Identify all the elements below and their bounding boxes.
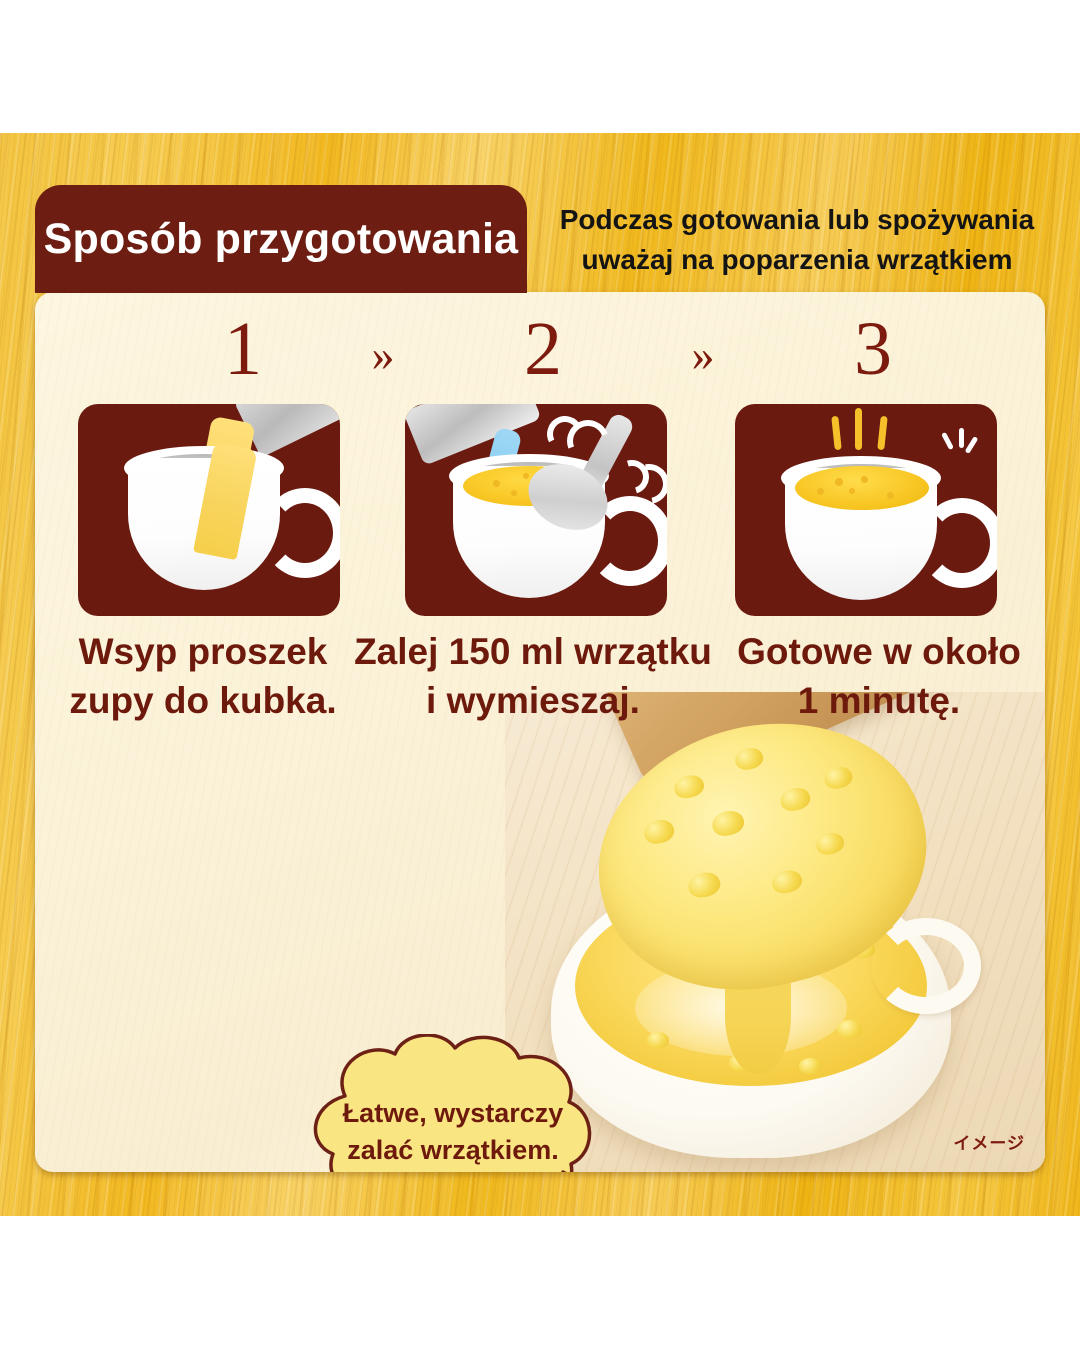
warning-line-2: uważaj na poparzenia wrzątkiem [581,240,1012,280]
photo-watermark: イメージ [953,1129,1025,1154]
step-number-2: 2 [483,310,603,388]
step-illustrations [35,404,1045,616]
speech-bubble-easy: Łatwe, wystarczy zalać wrzątkiem. [283,1034,623,1172]
step-3-caption: Gotowe w około 1 minutę. [723,628,1035,726]
bubble-1-line-1: Łatwe, wystarczy [343,1095,564,1132]
step-2-image [405,404,667,616]
step-1-caption-line-1: Wsyp proszek [53,628,353,677]
bubble-1-line-2: zalać wrzątkiem. [347,1132,559,1169]
chevron-right-icon-2: » [673,326,733,384]
step-3-image [735,404,997,616]
infographic-root: Sposób przygotowania Podczas gotowania l… [0,0,1080,1350]
mug-pouring-powder-icon [94,410,324,610]
step-captions: Wsyp proszek zupy do kubka. Zalej 150 ml… [35,628,1045,738]
step-3-caption-line-2: 1 minutę. [723,677,1035,726]
step-2-caption-line-1: Zalej 150 ml wrzątku [353,628,713,677]
step-1-caption: Wsyp proszek zupy do kubka. [53,628,353,726]
step-2-caption-line-2: i wymieszaj. [353,677,713,726]
mug-pouring-water-stirring-icon [419,418,649,614]
step-1-caption-line-2: zupy do kubka. [53,677,353,726]
step-3-caption-line-1: Gotowe w około [723,628,1035,677]
mug-hot-soup-ready-icon [751,420,981,616]
warning-line-1: Podczas gotowania lub spożywania [560,200,1035,240]
instructions-card: 1 » 2 » 3 [35,292,1045,1172]
header-warning-note: Podczas gotowania lub spożywania uważaj … [527,190,1067,290]
step-number-1: 1 [183,310,303,388]
step-1-image [78,404,340,616]
step-2-caption: Zalej 150 ml wrzątku i wymieszaj. [353,628,713,726]
header-tab: Sposób przygotowania [35,185,527,293]
step-number-3: 3 [813,310,933,388]
chevron-right-icon-1: » [353,326,413,384]
soup-bowl-handle [871,918,981,1014]
speech-bubble-easy-text: Łatwe, wystarczy zalać wrzątkiem. [283,1034,623,1172]
step-numbers-row: 1 » 2 » 3 [35,310,1045,388]
page-title: Sposób przygotowania [44,215,519,264]
